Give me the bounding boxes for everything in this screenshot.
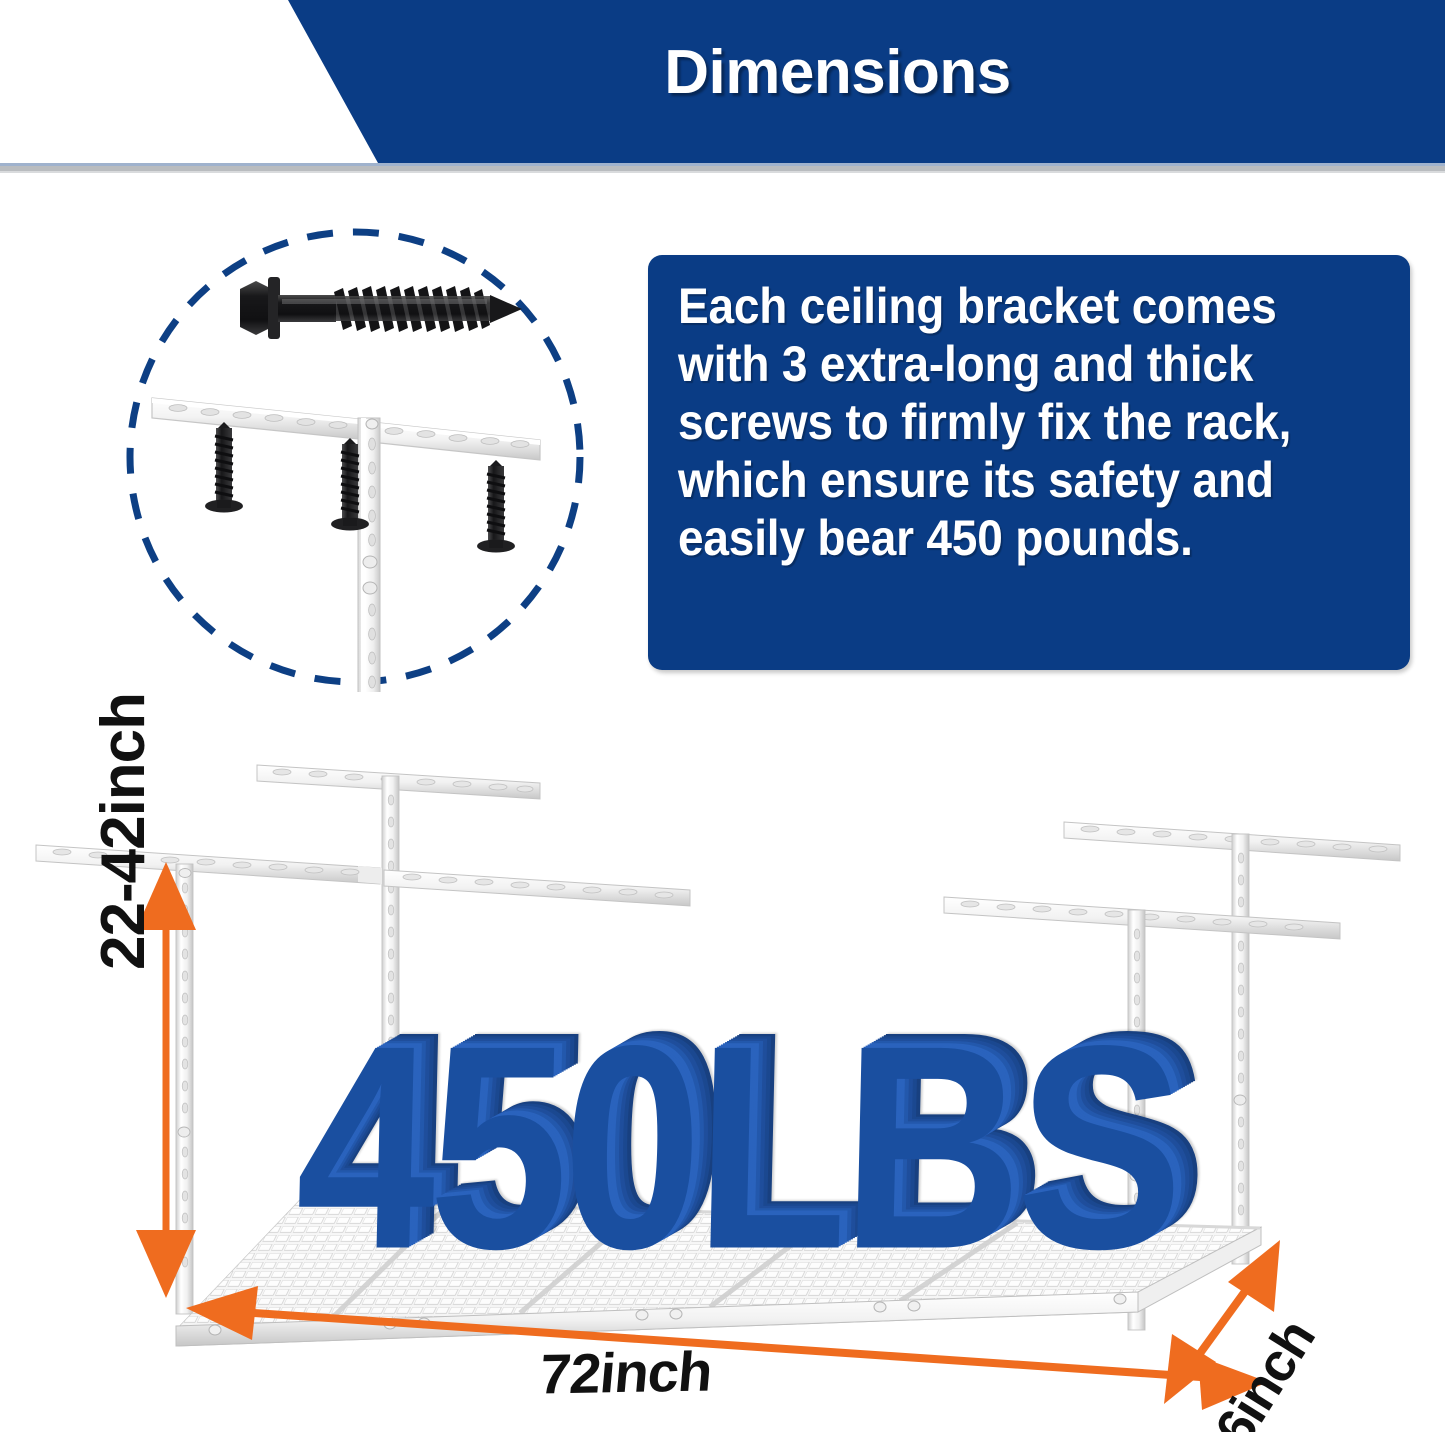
header-bar: Dimensions (0, 0, 1445, 163)
info-callout-text: Each ceiling bracket comes with 3 extra-… (678, 277, 1328, 567)
screw-detail-callout (120, 222, 590, 692)
mounting-screw-3-icon (477, 460, 515, 553)
rack-illustration (0, 740, 1445, 1380)
page-title: Dimensions (0, 42, 1445, 104)
ceiling-bracket-back-right (1064, 822, 1400, 1264)
mounting-screw-1-icon (205, 422, 243, 513)
large-lag-screw-icon (240, 277, 522, 339)
info-callout-box: Each ceiling bracket comes with 3 extra-… (648, 255, 1410, 670)
ceiling-bracket-back-left (257, 765, 540, 1221)
wire-mesh-deck (176, 1200, 1261, 1346)
infographic-canvas: Dimensions (0, 0, 1445, 1432)
header-divider-light (0, 171, 1445, 173)
